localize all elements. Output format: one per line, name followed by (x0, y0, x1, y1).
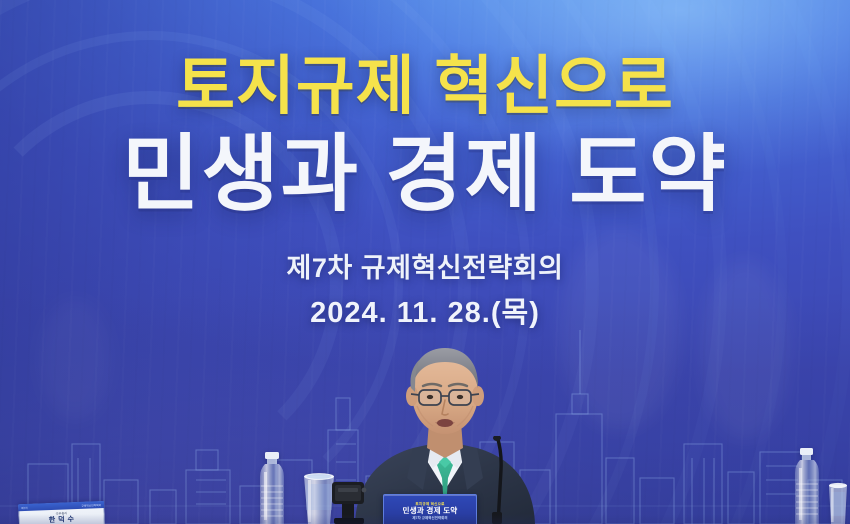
subtitle-meeting: 제7차 규제혁신전략회의 (0, 253, 850, 283)
headline-yellow: 토지규제 혁신으로 (0, 52, 850, 120)
placard-band-right: 규제혁신전략회의 (81, 503, 101, 508)
microphone-stem (484, 436, 508, 524)
water-bottle-right (790, 448, 824, 524)
headline-white: 민생과 경제 도약 (0, 130, 850, 218)
desk-front-edge (0, 514, 850, 524)
screenshot-root: 토지규제 혁신으로 민생과 경제 도약 제7차 규제혁신전략회의 2024. 1… (0, 0, 850, 524)
subtitle-date: 2024. 11. 28.(목) (0, 297, 850, 329)
placard-band-left: 제7차 (21, 505, 28, 509)
